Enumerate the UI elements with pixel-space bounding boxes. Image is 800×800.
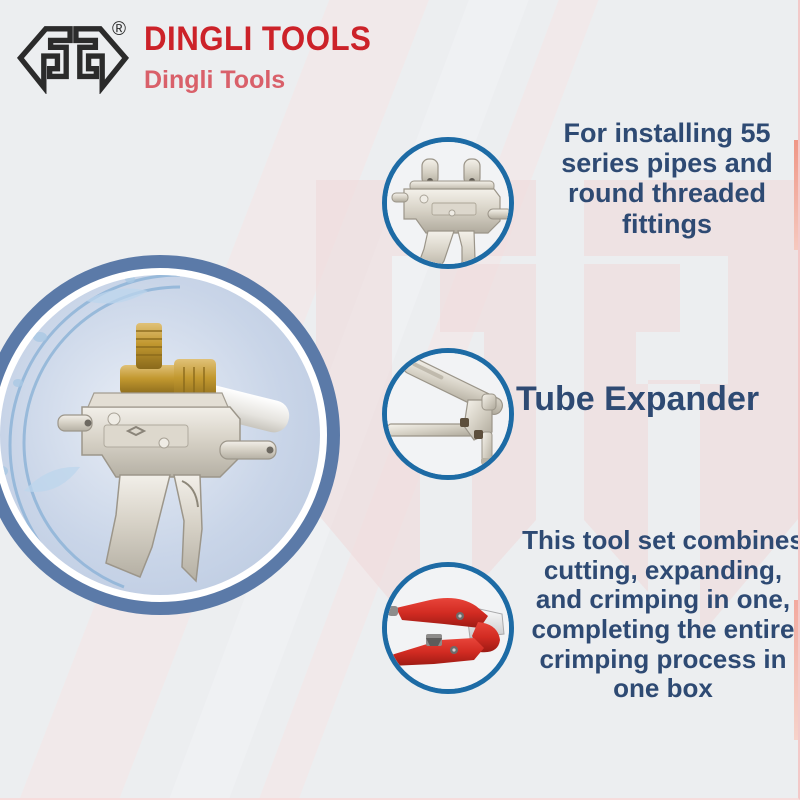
feature-circle-crimping-gun[interactable] <box>382 137 514 269</box>
hero-product-circle <box>0 255 340 615</box>
crimping-gun-product-icon <box>24 315 320 595</box>
feature-text-crimping-gun: For installing 55 series pipes and round… <box>528 118 800 239</box>
edge-accent-top <box>794 140 798 250</box>
feature-circle-pipe-cutter[interactable] <box>382 562 514 694</box>
product-banner: ® DINGLI TOOLS Dingli Tools <box>0 0 800 800</box>
brand-name-secondary: Dingli Tools <box>144 66 285 95</box>
feature-text-pipe-cutter: This tool set combines cutting, expandin… <box>520 526 800 704</box>
brand-name-primary: DINGLI TOOLS <box>144 20 371 59</box>
registered-trademark-icon: ® <box>112 20 126 39</box>
edge-accent-bottom <box>794 600 798 740</box>
brand-header: ® DINGLI TOOLS Dingli Tools <box>0 0 420 115</box>
crimping-gun-icon <box>382 137 514 269</box>
red-pipe-cutter-icon <box>382 562 514 694</box>
feature-text-tube-expander: Tube Expander <box>516 382 800 416</box>
hero-image-area <box>0 275 320 595</box>
tube-expander-icon <box>382 348 514 480</box>
feature-circle-tube-expander[interactable] <box>382 348 514 480</box>
